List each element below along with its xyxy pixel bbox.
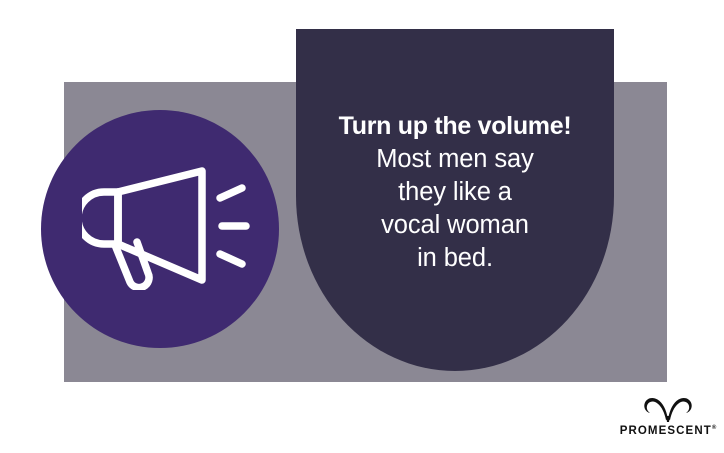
brand-logo: PROMESCENT®	[618, 392, 718, 442]
aries-horns-logo-icon	[641, 392, 695, 422]
brand-name: PROMESCENT	[620, 425, 712, 437]
quote-line-1: Turn up the volume!	[296, 110, 614, 143]
quote-line-3: they like a	[296, 176, 614, 209]
quote-line-2: Most men say	[296, 143, 614, 176]
quote-line-4: vocal woman	[296, 209, 614, 242]
megaphone-icon	[82, 165, 252, 290]
quote-line-5: in bed.	[296, 242, 614, 275]
trademark-symbol: ®	[712, 425, 716, 431]
quote-text-block: Turn up the volume! Most men say they li…	[296, 110, 614, 275]
infographic-canvas: Turn up the volume! Most men say they li…	[0, 0, 724, 453]
brand-wordmark: PROMESCENT®	[618, 425, 718, 437]
